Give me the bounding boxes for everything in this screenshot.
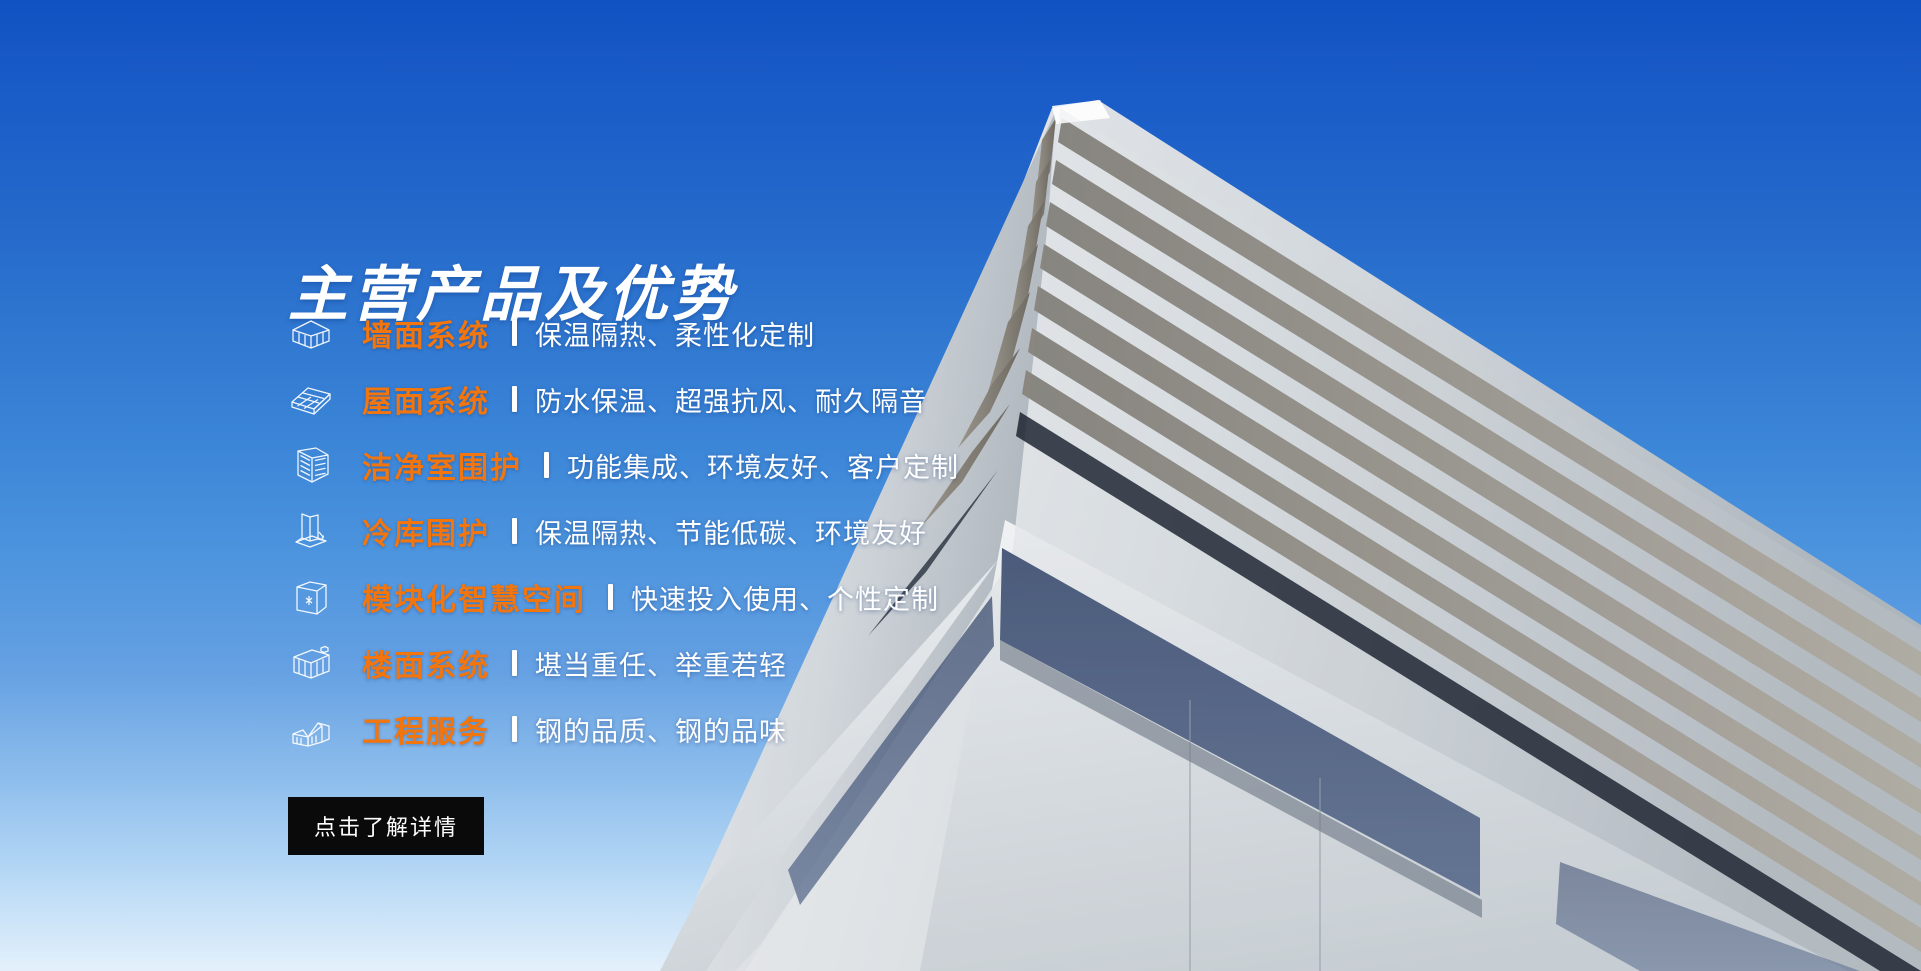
feature-separator (512, 386, 517, 412)
feature-row[interactable]: 楼面系统 堪当重任、举重若轻 (288, 630, 1288, 696)
feature-separator (544, 452, 549, 478)
feature-row[interactable]: 墙面系统 保温隔热、柔性化定制 (288, 300, 1288, 366)
feature-row[interactable]: 冷库围护 保温隔热、节能低碳、环境友好 (288, 498, 1288, 564)
feature-description: 防水保温、超强抗风、耐久隔音 (535, 380, 927, 419)
feature-description: 快速投入使用、个性定制 (631, 578, 939, 617)
feature-row[interactable]: 工程服务 钢的品质、钢的品味 (288, 696, 1288, 762)
feature-name: 冷库围护 (362, 509, 490, 553)
feature-separator (608, 584, 613, 610)
cleanroom-icon (288, 442, 334, 488)
wall-frame-icon (288, 310, 334, 356)
hero-content: 主营产品及优势 墙面系统 保温隔热、柔性化定制 (0, 0, 1921, 971)
modular-cube-icon (288, 574, 334, 620)
feature-name: 屋面系统 (362, 377, 490, 421)
feature-name: 洁净室围护 (362, 443, 522, 487)
feature-name: 楼面系统 (362, 641, 490, 685)
feature-list: 墙面系统 保温隔热、柔性化定制 屋面系统 防水保温、超强抗风、耐久隔音 (288, 300, 1288, 762)
learn-more-button[interactable]: 点击了解详情 (288, 797, 484, 855)
coldstore-icon (288, 508, 334, 554)
feature-description: 堪当重任、举重若轻 (535, 644, 787, 683)
engineering-icon (288, 706, 334, 752)
feature-name: 模块化智慧空间 (362, 575, 586, 619)
feature-row[interactable]: 洁净室围护 功能集成、环境友好、客户定制 (288, 432, 1288, 498)
roof-panel-icon (288, 376, 334, 422)
feature-separator (512, 320, 517, 346)
feature-separator (512, 716, 517, 742)
feature-row[interactable]: 模块化智慧空间 快速投入使用、个性定制 (288, 564, 1288, 630)
feature-separator (512, 650, 517, 676)
feature-description: 钢的品质、钢的品味 (535, 710, 787, 749)
feature-name: 工程服务 (362, 707, 490, 751)
feature-name: 墙面系统 (362, 311, 490, 355)
feature-description: 保温隔热、柔性化定制 (535, 314, 815, 353)
hero-banner: 主营产品及优势 墙面系统 保温隔热、柔性化定制 (0, 0, 1921, 971)
feature-row[interactable]: 屋面系统 防水保温、超强抗风、耐久隔音 (288, 366, 1288, 432)
floor-module-icon (288, 640, 334, 686)
feature-description: 功能集成、环境友好、客户定制 (567, 446, 959, 485)
feature-description: 保温隔热、节能低碳、环境友好 (535, 512, 927, 551)
feature-separator (512, 518, 517, 544)
